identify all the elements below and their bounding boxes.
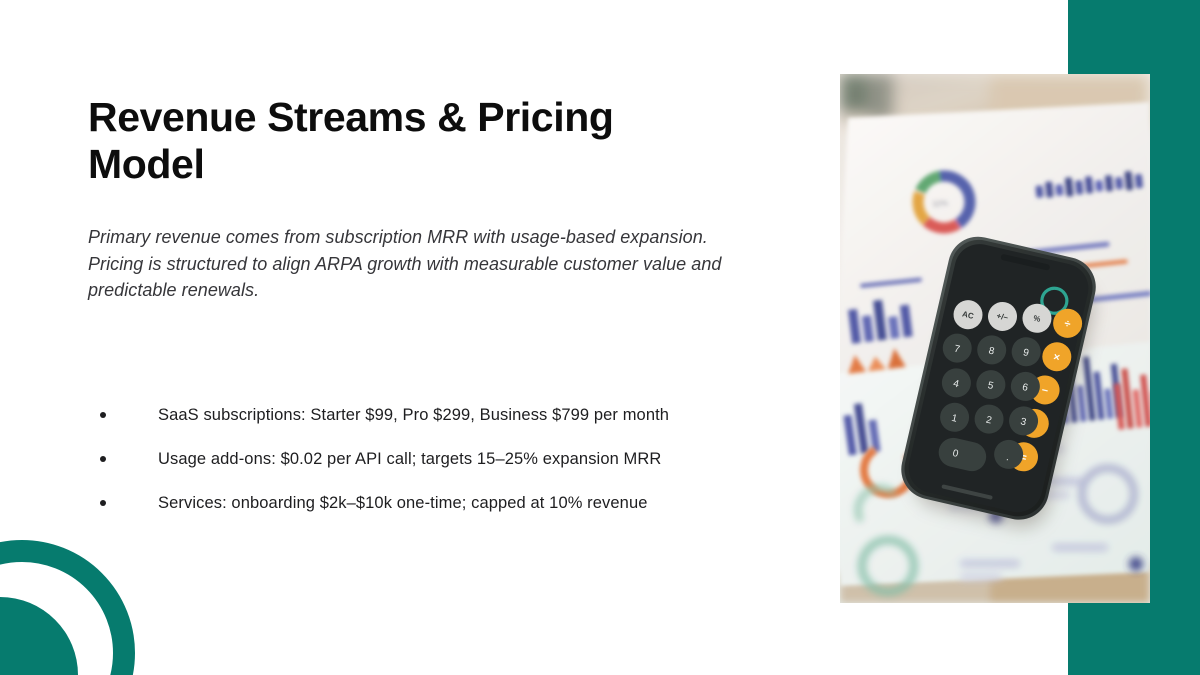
key-points-list: SaaS subscriptions: Starter $99, Pro $29… — [100, 404, 760, 514]
calculator-photo: 32% — [840, 74, 1150, 603]
corner-ring-decoration — [0, 525, 130, 675]
decorative-inner-disc — [0, 597, 78, 675]
list-item-label: Services: onboarding $2k–$10k one-time; … — [158, 494, 648, 512]
list-item-label: Usage add-ons: $0.02 per API call; targe… — [158, 450, 661, 468]
decorative-outer-ring — [0, 540, 135, 675]
slide-canvas: Revenue Streams & Pricing Model Primary … — [0, 0, 1200, 675]
list-item: Usage add-ons: $0.02 per API call; targe… — [100, 448, 760, 470]
text-content-column: Revenue Streams & Pricing Model Primary … — [88, 94, 748, 304]
bullet-point-icon — [100, 412, 106, 418]
list-item: Services: onboarding $2k–$10k one-time; … — [100, 492, 760, 514]
slide-subtitle: Primary revenue comes from subscription … — [88, 188, 728, 304]
photo-illustration: 32% — [840, 74, 1150, 603]
bullet-point-icon — [100, 456, 106, 462]
page-title: Revenue Streams & Pricing Model — [88, 94, 748, 188]
list-item: SaaS subscriptions: Starter $99, Pro $29… — [100, 404, 760, 426]
bullet-point-icon — [100, 500, 106, 506]
list-item-label: SaaS subscriptions: Starter $99, Pro $29… — [158, 406, 669, 424]
